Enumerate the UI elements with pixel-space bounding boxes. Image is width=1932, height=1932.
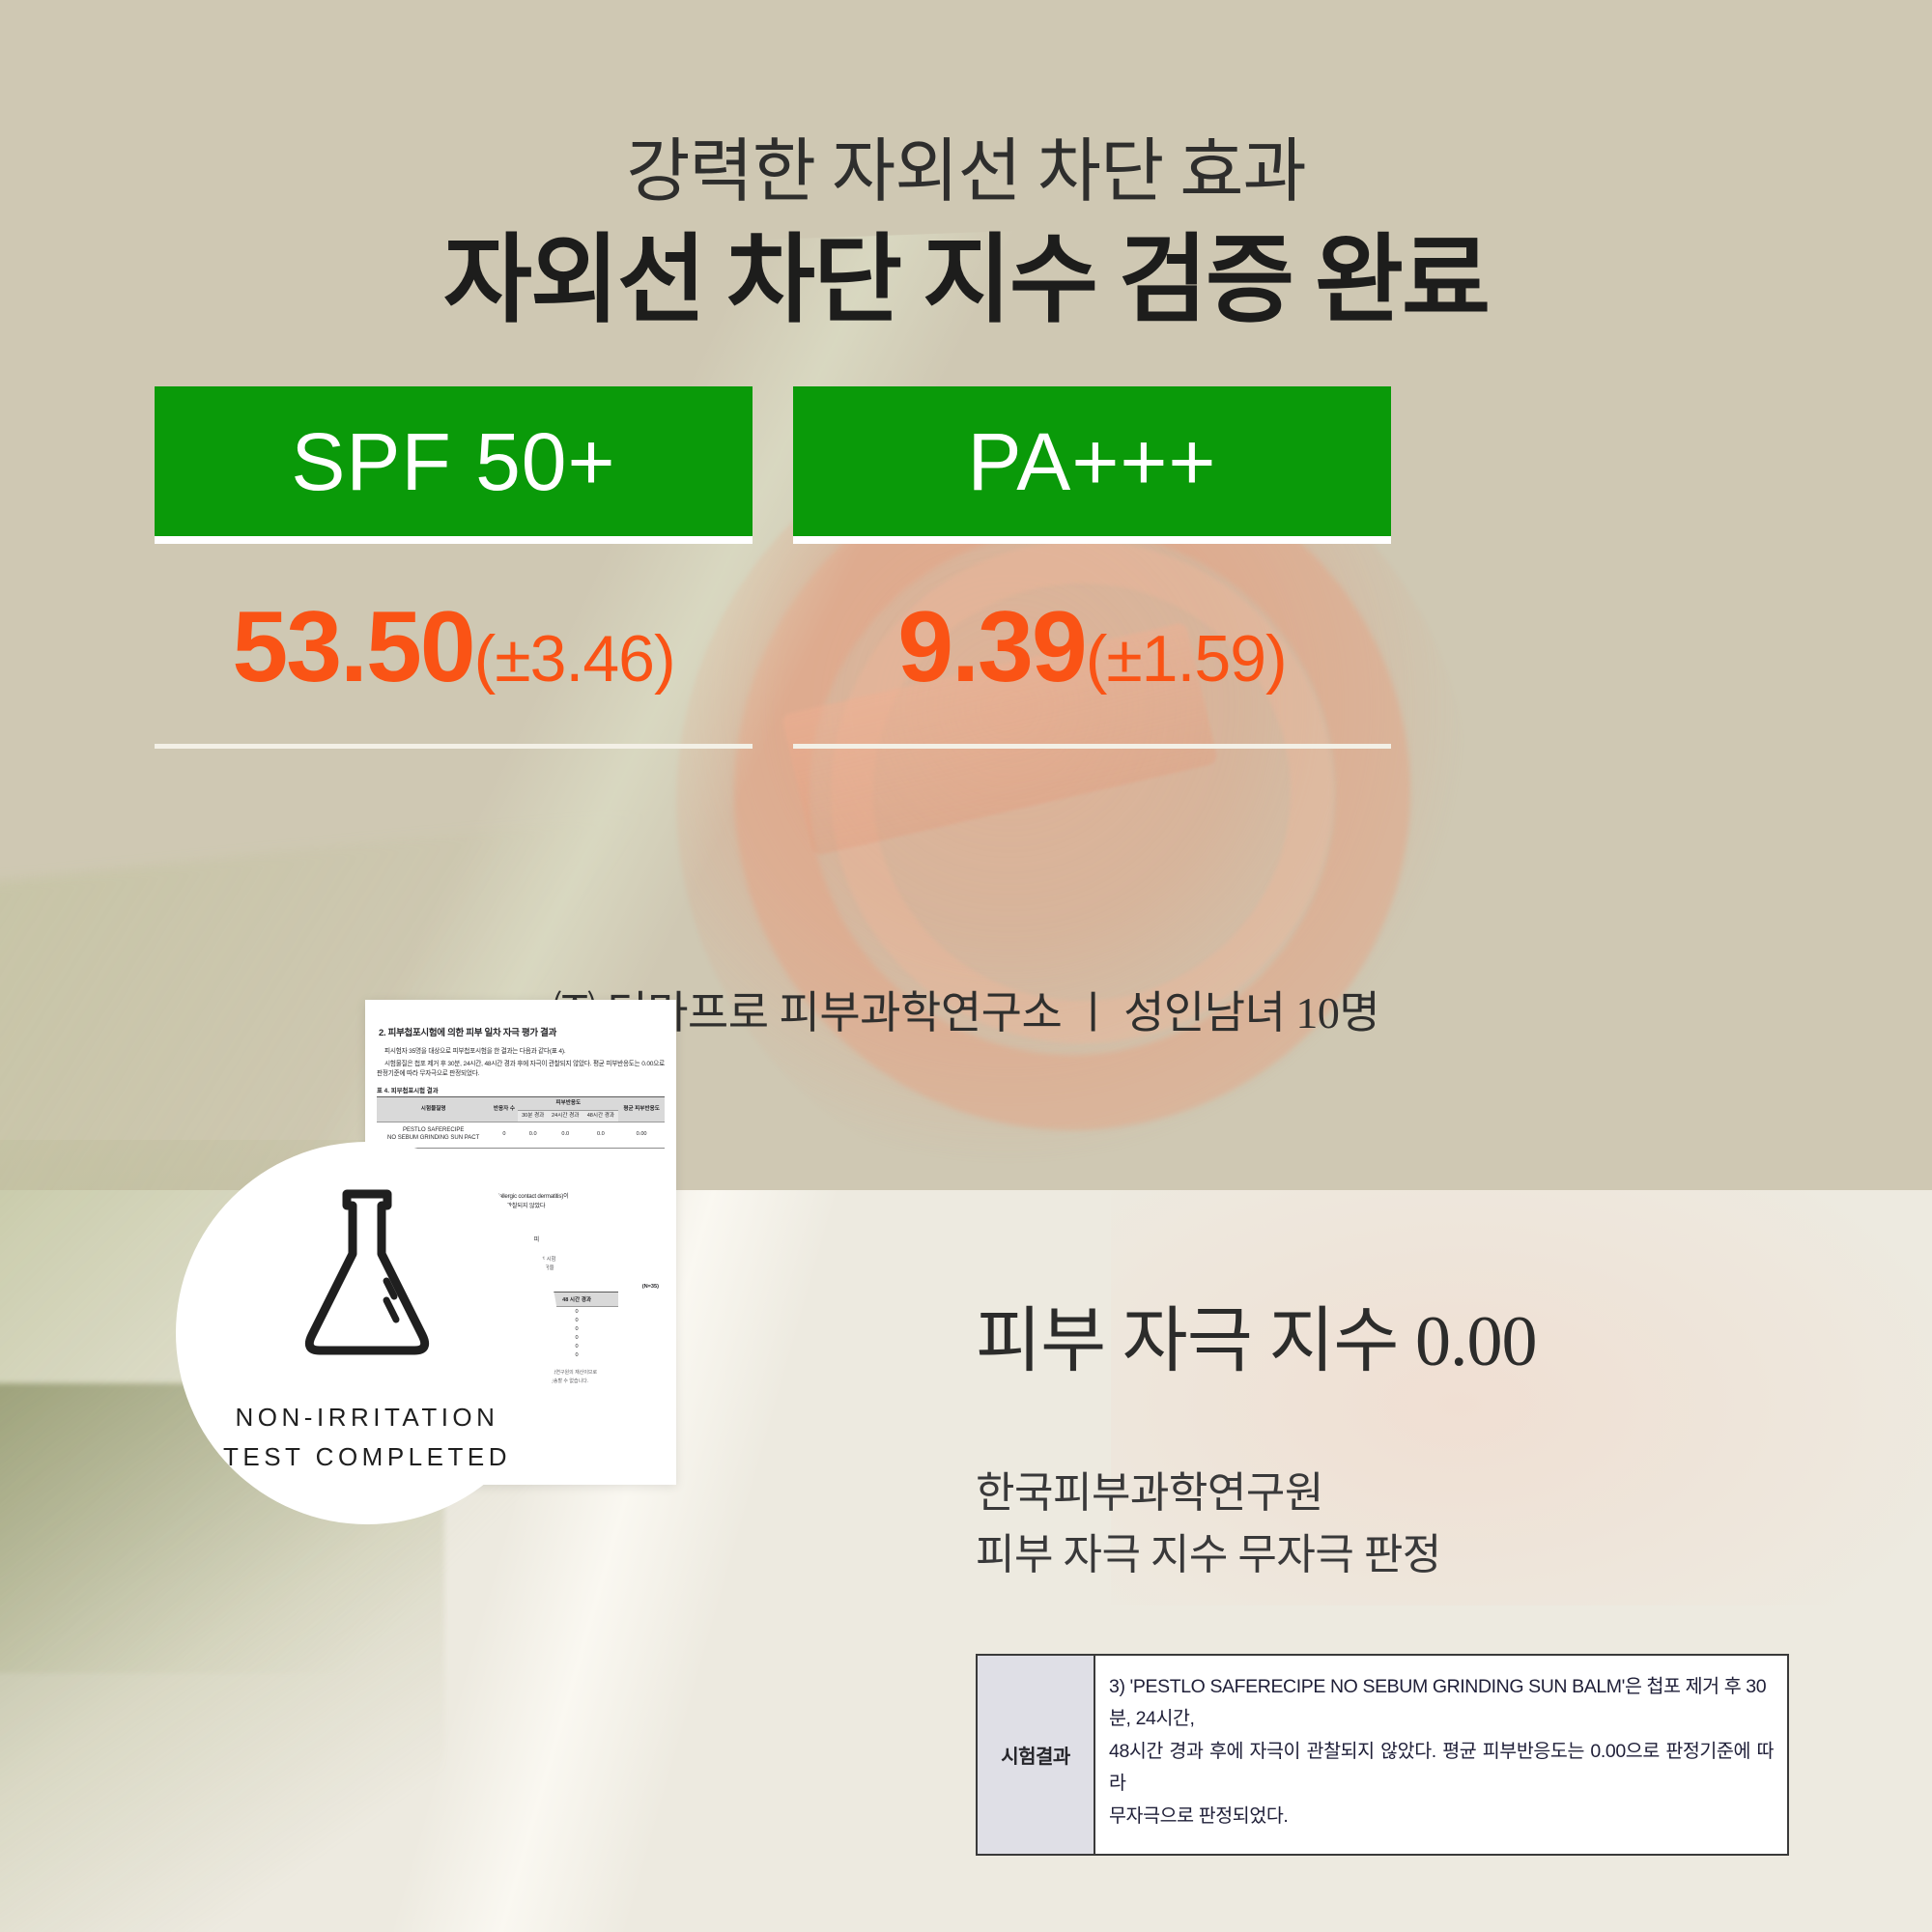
- substance-line-1: PESTLO SAFERECIPE: [403, 1127, 464, 1133]
- header-block: 강력한 자외선 차단 효과 자외선 차단 지수 검증 완료: [0, 0, 1932, 331]
- table-row: PESTLO SAFERECIPE NO SEBUM GRINDING SUN …: [377, 1122, 665, 1148]
- report-section-title: 2. 피부첩포시험에 의한 피부 일차 자극 평가 결과: [379, 1025, 665, 1038]
- cell-48h: 0.0: [583, 1122, 619, 1148]
- test-result-line-2: 48시간 경과 후에 자극이 관찰되지 않았다. 평균 피부반응도는 0.00으…: [1109, 1736, 1774, 1801]
- th-substance: 시험물질명: [377, 1097, 490, 1122]
- seal-caption-line-2: TEST COMPLETED: [223, 1437, 511, 1476]
- spf-deviation: (±3.46): [474, 622, 675, 696]
- seal-caption-line-1: NON-IRRITATION: [223, 1398, 511, 1436]
- report-table-caption: 표 4. 피부첩포시험 결과: [377, 1086, 665, 1094]
- test-result-line-1: 3) 'PESTLO SAFERECIPE NO SEBUM GRINDING …: [1109, 1671, 1774, 1736]
- pa-badge-label: PA+++: [968, 421, 1217, 502]
- pa-badge-underline: [793, 536, 1391, 544]
- substance-line-2: NO SEBUM GRINDING SUN PACT: [387, 1135, 479, 1141]
- stat-column-pa: PA+++ 9.39(±1.59): [793, 386, 1391, 749]
- page-title: 자외선 차단 지수 검증 완료: [0, 230, 1932, 331]
- seal-caption: NON-IRRITATION TEST COMPLETED: [223, 1398, 511, 1476]
- test-result-line-3: 무자극으로 판정되었다.: [1109, 1801, 1774, 1833]
- infographic-canvas: 강력한 자외선 차단 효과 자외선 차단 지수 검증 완료 SPF 50+ 53…: [0, 0, 1932, 1932]
- kicker-text: 강력한 자외선 차단 효과: [0, 137, 1932, 207]
- report-paragraph-2: 시험물질은 첩포 제거 후 30분, 24시간, 48시간 경과 후에 자극이 …: [377, 1060, 665, 1080]
- test-source-caption: ㈜ 더마프로 피부과학연구소 ㅣ 성인남녀 10명: [0, 978, 1932, 1041]
- th-48h: 48시간 경과: [583, 1111, 619, 1122]
- th-30min: 30분 경과: [518, 1111, 547, 1122]
- test-result-box: 시험결과 3) 'PESTLO SAFERECIPE NO SEBUM GRIN…: [976, 1654, 1789, 1857]
- stat-column-spf: SPF 50+ 53.50(±3.46): [155, 386, 753, 749]
- spf-value: 53.50: [232, 591, 473, 703]
- th-average: 평균 피부반응도: [618, 1097, 665, 1122]
- cell-24h: 0.0: [548, 1122, 583, 1148]
- institute-verdict: 피부 자극 지수 무자극 판정: [976, 1524, 1806, 1586]
- th-skin-response: 피부반응도: [518, 1097, 618, 1111]
- test-result-label: 시험결과: [978, 1656, 1095, 1855]
- pa-value: 9.39: [897, 591, 1085, 703]
- erlenmeyer-flask-icon: [295, 1184, 440, 1373]
- report-paragraph-1: 피시험자 35명을 대상으로 피부첩포시험을 한 결과는 다음과 같다(표 4)…: [377, 1047, 665, 1058]
- pa-deviation: (±1.59): [1086, 622, 1287, 696]
- report-result-table: 시험물질명 반응자 수 피부반응도 평균 피부반응도 30분 경과 24시간 경…: [377, 1096, 665, 1149]
- cell-average: 0.00: [618, 1122, 665, 1148]
- cell-30min: 0.0: [518, 1122, 547, 1148]
- cell-responders: 0: [490, 1122, 518, 1148]
- th-responders: 반응자 수: [490, 1097, 518, 1122]
- stats-grid: SPF 50+ 53.50(±3.46) PA+++ 9.39(±1.59): [155, 386, 1777, 749]
- institute-name: 한국피부과학연구원: [976, 1463, 1806, 1524]
- test-result-body: 3) 'PESTLO SAFERECIPE NO SEBUM GRINDING …: [1095, 1656, 1787, 1855]
- pa-divider: [793, 744, 1391, 749]
- spf-divider: [155, 744, 753, 749]
- skin-index-title: 피부 자극 지수 0.00: [976, 1306, 1806, 1378]
- pa-value-row: 9.39(±1.59): [793, 597, 1391, 697]
- th-24h: 24시간 경과: [548, 1111, 583, 1122]
- spf-value-row: 53.50(±3.46): [155, 597, 753, 697]
- pa-badge: PA+++: [793, 386, 1391, 536]
- spf-badge: SPF 50+: [155, 386, 753, 536]
- spf-badge-label: SPF 50+: [291, 421, 615, 502]
- bottom-right-column: 피부 자극 지수 0.00 한국피부과학연구원 피부 자극 지수 무자극 판정 …: [976, 1306, 1806, 1856]
- institute-block: 한국피부과학연구원 피부 자극 지수 무자극 판정: [976, 1463, 1806, 1586]
- non-irritation-seal: NON-IRRITATION TEST COMPLETED: [176, 1142, 558, 1524]
- spf-badge-underline: [155, 536, 753, 544]
